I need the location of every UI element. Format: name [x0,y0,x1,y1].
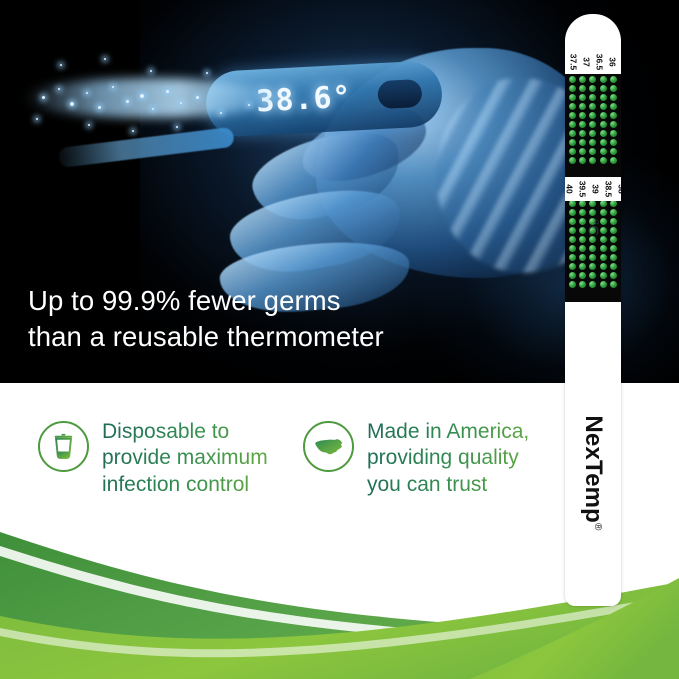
matrix-dot [600,263,607,270]
matrix-dot [610,218,617,225]
scale-tick: 38.5 [604,181,614,198]
sparkle-particle [206,72,208,74]
matrix-dot [610,121,617,128]
matrix-dot [610,112,617,119]
temperature-scale-upper: 37.53736.53635.5 [565,50,621,74]
feature-disposable-text: Disposable to provide maximum infection … [102,419,268,498]
headline-line-2: than a reusable thermometer [28,319,498,355]
sparkle-particle [248,104,250,106]
matrix-dot [600,94,607,101]
matrix-dot [569,157,576,164]
matrix-dot [579,263,586,270]
feature-disposable: Disposable to provide maximum infection … [38,419,318,498]
matrix-dot [610,200,617,207]
thermometer-power-button [377,79,422,109]
matrix-dot [569,218,576,225]
matrix-dot [589,112,596,119]
sparkle-particle [220,112,222,114]
matrix-dot [579,94,586,101]
matrix-dot [579,121,586,128]
matrix-dot [569,245,576,252]
sparkle-particle [140,94,144,98]
matrix-dot [589,281,596,288]
matrix-dot [569,227,576,234]
matrix-dot [569,209,576,216]
matrix-dot [569,130,576,137]
thermometer-probe [58,127,235,168]
sparkle-particle [86,92,88,94]
scale-tick: 36.5 [594,54,604,71]
matrix-dot [589,76,596,83]
matrix-dot [610,227,617,234]
matrix-dot [569,121,576,128]
registered-trademark-mark: ® [592,523,603,531]
matrix-dot [600,281,607,288]
scale-tick: 39.5 [578,181,588,198]
temperature-scale-lower: 4039.53938.538 [565,177,621,201]
matrix-dot [579,139,586,146]
matrix-dot [610,94,617,101]
matrix-dot [600,148,607,155]
matrix-dot [569,200,576,207]
matrix-dot [610,263,617,270]
sparkle-particle [60,64,62,66]
sparkle-particle [150,70,152,72]
sparkle-particle [126,100,129,103]
matrix-dot [569,254,576,261]
matrix-dot [600,139,607,146]
matrix-dot [610,236,617,243]
matrix-dot [569,85,576,92]
sparkle-particle [196,96,199,99]
sparkle-particle [112,86,114,88]
matrix-dot [569,94,576,101]
trash-can-icon [38,421,89,472]
feature-line: Disposable to [102,419,268,445]
matrix-dot [579,130,586,137]
matrix-dot [610,148,617,155]
matrix-dot [610,272,617,279]
scale-tick: 37 [581,57,591,66]
matrix-dot [610,103,617,110]
matrix-dot [569,236,576,243]
matrix-dot [589,139,596,146]
gloved-hand-image: 38.6° [196,18,616,318]
matrix-dot [569,281,576,288]
scale-tick: 35.5 [620,54,621,71]
matrix-dot [600,85,607,92]
matrix-dot [569,263,576,270]
matrix-dot [579,281,586,288]
matrix-dot [579,148,586,155]
product-marketing-image: 38.6° Up to 99.9% fewer germs than a reu… [0,0,679,679]
matrix-dot [610,254,617,261]
matrix-dot [589,85,596,92]
sparkle-trail [24,78,274,118]
scale-tick: 39 [591,184,601,193]
matrix-dot [569,148,576,155]
matrix-dot [610,281,617,288]
hero-headline: Up to 99.9% fewer germs than a reusable … [28,283,498,355]
matrix-dot [610,209,617,216]
sparkle-particle [36,118,38,120]
matrix-dot [589,263,596,270]
feature-line: Made in America, [367,419,529,445]
brand-name: NexTemp [580,415,607,523]
matrix-dot [610,130,617,137]
sparkle-particle [42,96,45,99]
sparkle-particle [166,90,169,93]
matrix-dot [589,94,596,101]
feature-line: infection control [102,472,268,498]
matrix-dot [579,85,586,92]
usa-map-icon [303,421,354,472]
matrix-dot [589,157,596,164]
sparkle-particle [152,108,154,110]
matrix-dot [569,272,576,279]
sparkle-particle [180,102,182,104]
scale-tick: 38 [617,184,621,193]
nextemp-thermometer-strip: 37.53736.53635.5 4039.53938.538 °C NexTe… [565,14,621,606]
sparkle-particle [88,124,90,126]
matrix-dot [600,121,607,128]
matrix-dot [610,76,617,83]
matrix-dot [600,130,607,137]
matrix-dot [589,148,596,155]
matrix-dot [579,112,586,119]
sparkle-particle [132,130,134,132]
matrix-dot [579,76,586,83]
matrix-dot [579,272,586,279]
dot-matrix-upper [565,62,621,177]
matrix-dot [569,76,576,83]
matrix-dot [600,103,607,110]
feature-made-in-america-text: Made in America, providing quality you c… [367,419,529,498]
matrix-dot [569,103,576,110]
matrix-dot [600,76,607,83]
scale-tick: 36 [607,57,617,66]
sparkle-particle [98,106,101,109]
matrix-dot [589,272,596,279]
feature-line: you can trust [367,472,529,498]
matrix-dot [610,157,617,164]
scale-tick: 40 [565,184,575,193]
scale-tick: 37.5 [568,54,578,71]
sparkle-particle [58,88,60,90]
matrix-dot [569,139,576,146]
matrix-dot [589,121,596,128]
matrix-dot [589,103,596,110]
sparkle-particle [70,102,74,106]
matrix-dot [600,272,607,279]
matrix-dot [589,130,596,137]
feature-line: providing quality [367,445,529,471]
celsius-unit-label: °C [585,200,602,256]
matrix-dot [579,103,586,110]
matrix-dot [579,157,586,164]
matrix-dot [569,112,576,119]
matrix-dot [600,112,607,119]
sparkle-particle [176,126,178,128]
matrix-dot [610,139,617,146]
matrix-dot [610,245,617,252]
feature-line: provide maximum [102,445,268,471]
headline-line-1: Up to 99.9% fewer germs [28,283,498,319]
matrix-dot [610,85,617,92]
nextemp-brand-logo: NexTemp® [579,400,607,546]
matrix-dot [600,157,607,164]
sparkle-particle [104,58,106,60]
feature-made-in-america: Made in America, providing quality you c… [303,419,573,498]
